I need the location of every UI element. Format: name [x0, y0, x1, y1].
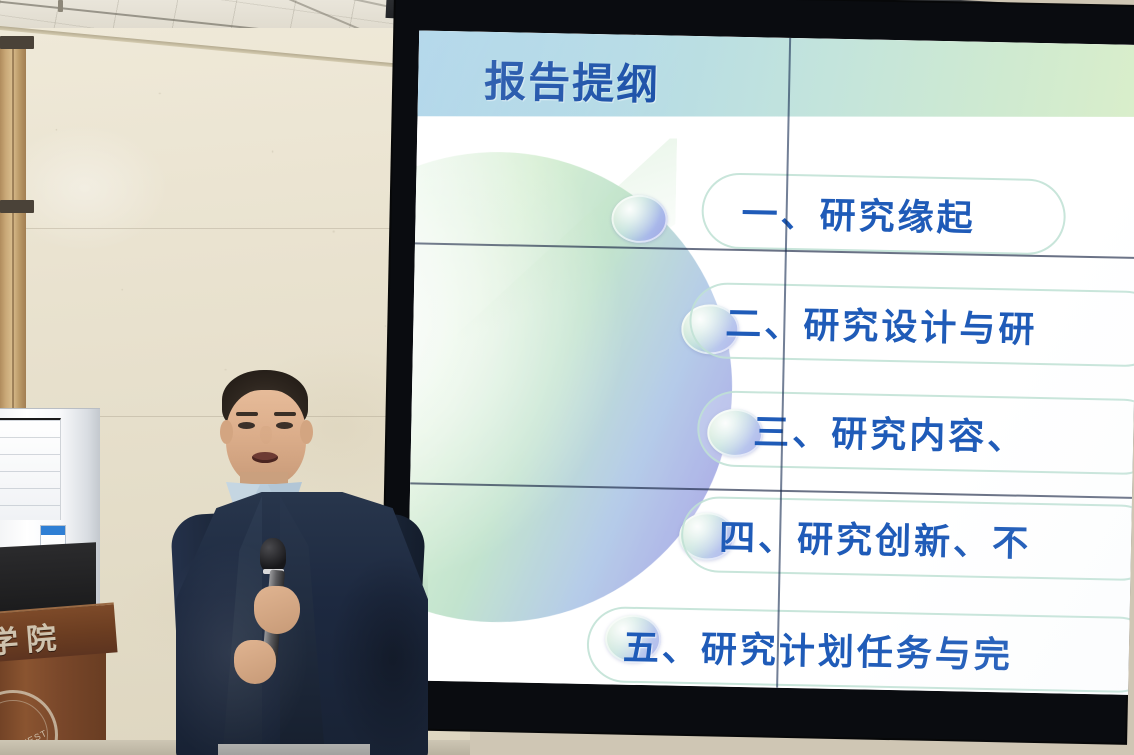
door-hinge-icon: [0, 36, 34, 49]
slide-title: 报告提纲: [484, 48, 661, 113]
air-conditioner-vent: [0, 418, 61, 520]
podium-nameplate: 学院: [0, 602, 118, 661]
outline-item-1: 一、研究缘起: [741, 185, 976, 242]
outline-item-4: 四、研究创新、不: [719, 509, 1032, 567]
eye-right: [276, 422, 293, 429]
podium-nameplate-text: 学院: [0, 612, 66, 661]
nose: [260, 426, 272, 444]
hand-holding-microphone: [254, 586, 300, 634]
outline-item-2: 二、研究设计与研: [725, 295, 1038, 353]
eyebrow-right: [274, 412, 296, 416]
presentation-slide: 报告提纲 一、研究缘起 二、研究设计与研 三、研究内容、 四、研究创新、不 五、…: [406, 30, 1134, 694]
ear-left: [220, 420, 233, 444]
outline-item-5: 五、研究计划任务与完: [622, 619, 1013, 679]
speaker-person: [176, 364, 428, 755]
door-hinge-icon: [0, 200, 34, 213]
outline-item-3: 三、研究内容、: [753, 403, 1027, 460]
ear-right: [300, 420, 313, 444]
sprinkler-head-icon: [58, 0, 63, 12]
video-wall-bezel: 报告提纲 一、研究缘起 二、研究设计与研 三、研究内容、 四、研究创新、不 五、…: [381, 0, 1134, 743]
trousers: [218, 744, 370, 755]
eye-left: [238, 422, 255, 429]
mouth: [252, 452, 278, 463]
hand-holding-clicker: [234, 640, 276, 684]
microphone-head: [260, 538, 286, 572]
video-wall-display[interactable]: 报告提纲 一、研究缘起 二、研究设计与研 三、研究内容、 四、研究创新、不 五、…: [406, 30, 1134, 694]
presentation-room-photo: 学院 THWEST 报告提纲 一、研究缘起: [0, 0, 1134, 755]
eyebrow-left: [236, 412, 258, 416]
